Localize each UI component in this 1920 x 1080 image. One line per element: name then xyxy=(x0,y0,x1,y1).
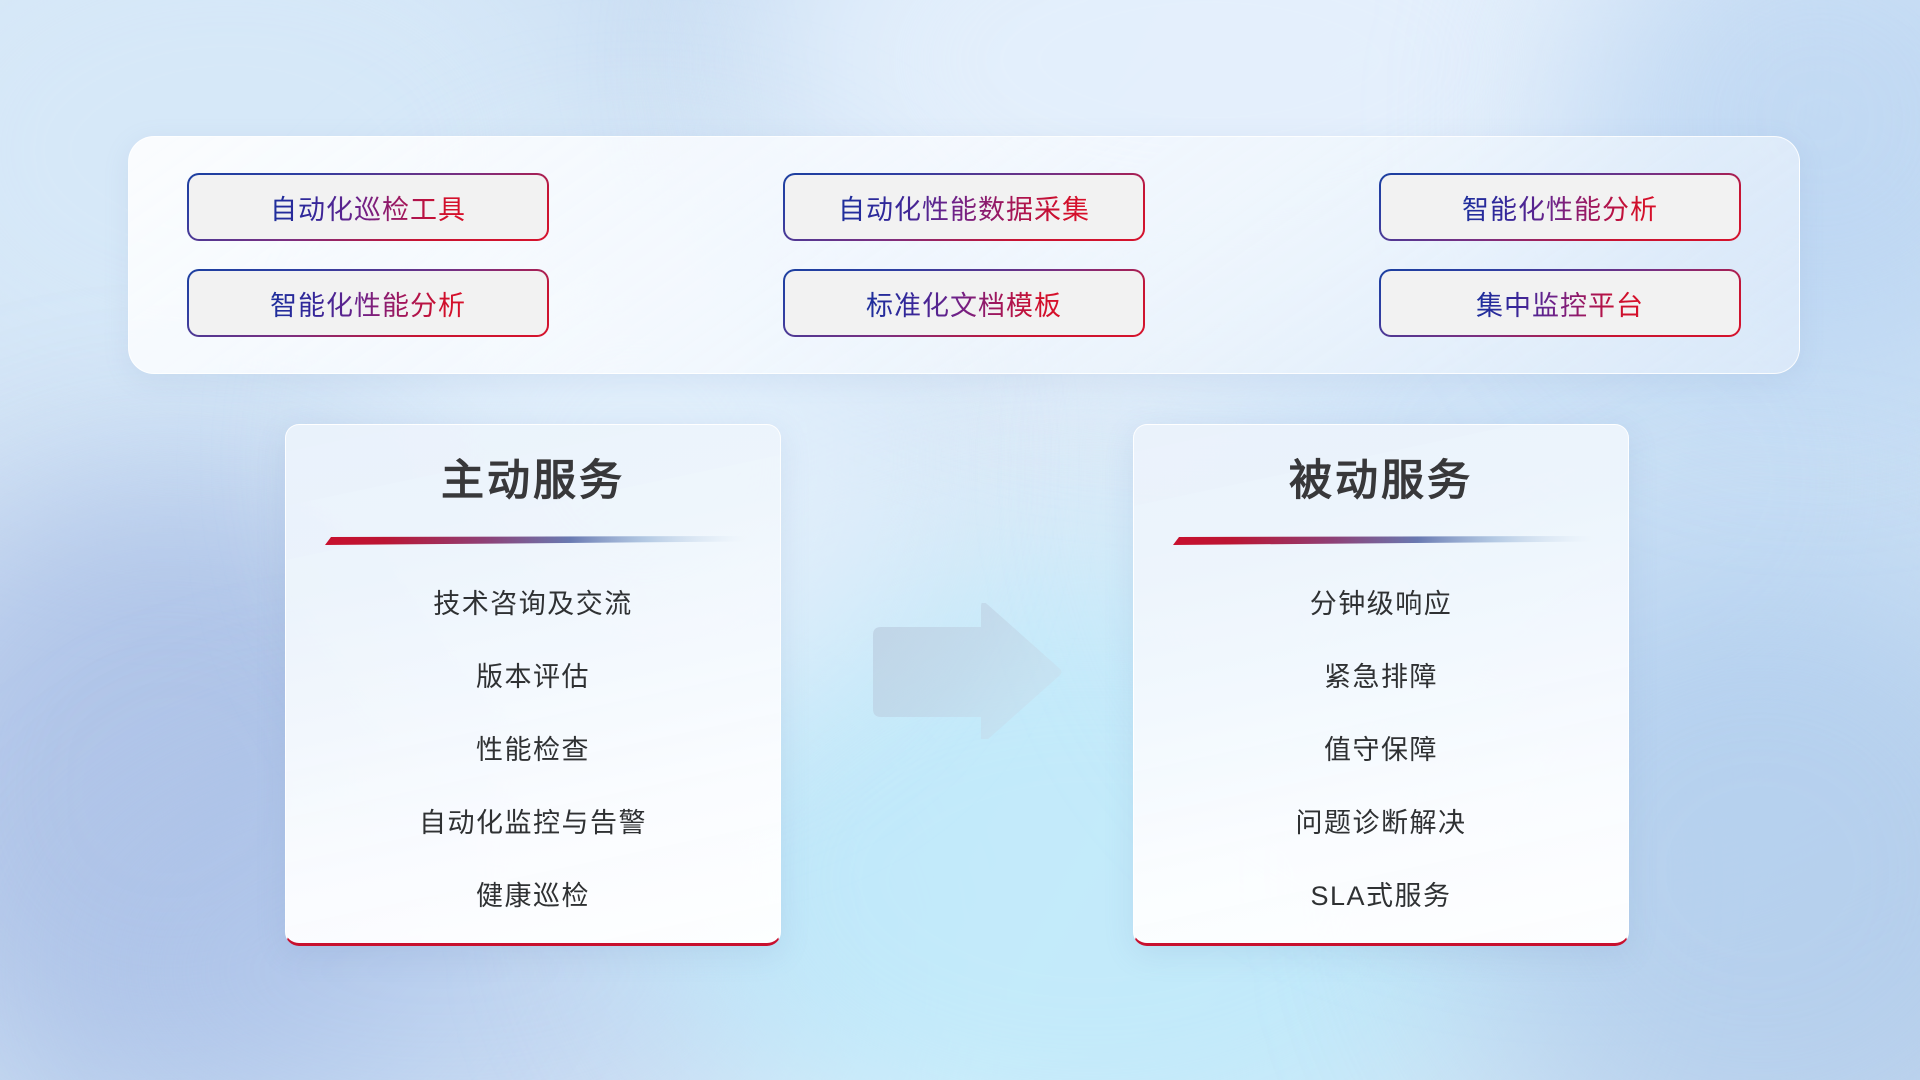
list-item[interactable]: 值守保障 xyxy=(1324,721,1438,780)
tool-pill-label: 自动化巡检工具 xyxy=(270,188,466,227)
tool-pill-standard-doc-template[interactable]: 标准化文档模板 xyxy=(785,271,1143,335)
card-divider xyxy=(319,536,747,545)
list-item[interactable]: 性能检查 xyxy=(476,721,590,780)
tool-pill-central-monitoring-platform[interactable]: 集中监控平台 xyxy=(1381,271,1739,335)
tool-pill-label: 标准化文档模板 xyxy=(866,284,1062,323)
tools-row-2: 智能化性能分析 标准化文档模板 集中监控平台 xyxy=(189,271,1739,335)
list-item[interactable]: SLA式服务 xyxy=(1310,867,1451,926)
tools-row-1: 自动化巡检工具 自动化性能数据采集 智能化性能分析 xyxy=(189,175,1739,239)
tools-panel: 自动化巡检工具 自动化性能数据采集 智能化性能分析 智能化性能分析 标准化文档模… xyxy=(128,136,1800,374)
list-item[interactable]: 健康巡检 xyxy=(476,867,590,926)
card-title: 主动服务 xyxy=(441,457,625,506)
card-list: 分钟级响应 紧急排障 值守保障 问题诊断解决 SLA式服务 xyxy=(1168,575,1594,926)
tool-pill-label: 集中监控平台 xyxy=(1476,284,1644,323)
list-item[interactable]: 自动化监控与告警 xyxy=(419,794,647,853)
tool-pill-automated-performance-collection[interactable]: 自动化性能数据采集 xyxy=(785,175,1143,239)
slide-canvas: 自动化巡检工具 自动化性能数据采集 智能化性能分析 智能化性能分析 标准化文档模… xyxy=(0,0,1920,1080)
tool-pill-intelligent-performance-analysis[interactable]: 智能化性能分析 xyxy=(1381,175,1739,239)
list-item[interactable]: 紧急排障 xyxy=(1324,648,1438,707)
tool-pill-label: 自动化性能数据采集 xyxy=(838,188,1090,227)
tool-pill-intelligent-performance-analysis-2[interactable]: 智能化性能分析 xyxy=(189,271,547,335)
list-item[interactable]: 技术咨询及交流 xyxy=(433,575,633,634)
card-title: 被动服务 xyxy=(1289,457,1473,506)
tool-pill-label: 智能化性能分析 xyxy=(270,284,466,323)
list-item[interactable]: 问题诊断解决 xyxy=(1296,794,1467,853)
list-item[interactable]: 分钟级响应 xyxy=(1310,575,1453,634)
tool-pill-automated-inspection[interactable]: 自动化巡检工具 xyxy=(189,175,547,239)
service-card-passive: 被动服务 分钟级响应 紧急排障 xyxy=(1133,424,1629,946)
card-divider xyxy=(1167,536,1595,545)
arrow-right-icon xyxy=(865,603,1065,739)
tool-pill-label: 智能化性能分析 xyxy=(1462,188,1658,227)
list-item[interactable]: 版本评估 xyxy=(476,648,590,707)
service-card-active: 主动服务 技术咨询及交流 版本评估 xyxy=(285,424,781,946)
card-list: 技术咨询及交流 版本评估 性能检查 自动化监控与告警 健康巡检 xyxy=(320,575,746,926)
